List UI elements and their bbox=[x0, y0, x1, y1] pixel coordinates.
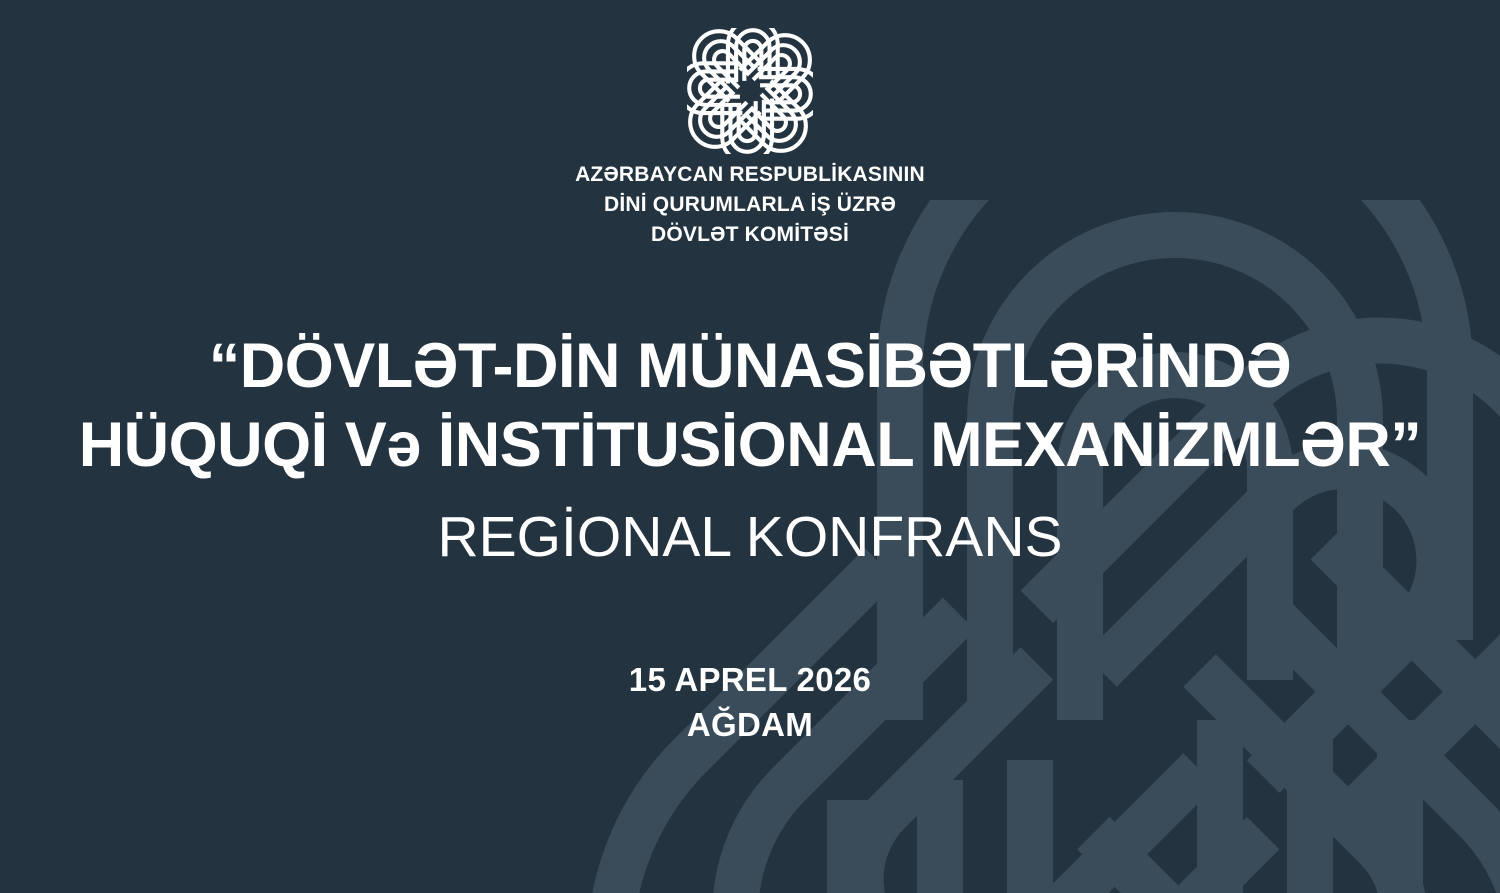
event-date: 15 APREL 2026 bbox=[629, 658, 871, 703]
event-location: AĞDAM bbox=[629, 703, 871, 748]
conference-title-line-1: “DÖVLƏT-DİN MÜNASİBƏTLƏRİNDƏ bbox=[0, 327, 1500, 405]
conference-title-line-2: HÜQUQİ Və İNSTİTUSİONAL MEXANİZMLƏR” bbox=[0, 406, 1500, 484]
organization-name: AZƏRBAYCAN RESPUBLİKASININ DİNİ QURUMLAR… bbox=[575, 160, 925, 249]
conference-subtitle: REGİONAL KONFRANS bbox=[438, 506, 1063, 569]
conference-title: “DÖVLƏT-DİN MÜNASİBƏTLƏRİNDƏ HÜQUQİ Və İ… bbox=[0, 327, 1500, 483]
organization-name-line-3: DÖVLƏT KOMİTƏSİ bbox=[575, 220, 925, 250]
organization-name-line-2: DİNİ QURUMLARLA İŞ ÜZRƏ bbox=[575, 190, 925, 220]
organization-name-line-1: AZƏRBAYCAN RESPUBLİKASININ bbox=[575, 160, 925, 190]
conference-banner: AZƏRBAYCAN RESPUBLİKASININ DİNİ QURUMLAR… bbox=[0, 0, 1500, 893]
event-details: 15 APREL 2026 AĞDAM bbox=[629, 658, 871, 747]
eight-point-star-emblem-icon bbox=[687, 28, 813, 154]
